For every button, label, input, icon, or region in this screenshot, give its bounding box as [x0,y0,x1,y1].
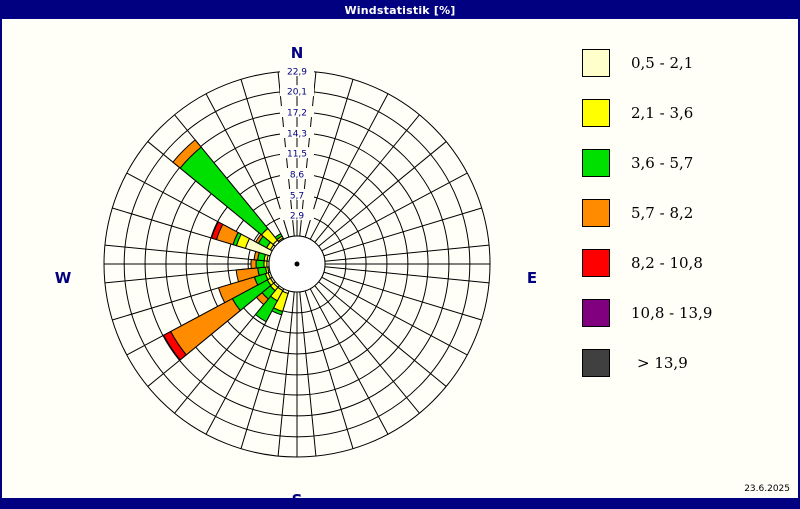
origin-marker [295,262,300,267]
legend-label: 0,5 - 2,1 [631,54,693,72]
calm-center [269,236,325,292]
legend-item: 10,8 - 13,9 [582,288,792,338]
petal-layer [164,140,289,360]
legend-label: 8,2 - 10,8 [631,254,703,272]
radial-tick-label: 2,9 [290,212,305,222]
legend-item: 5,7 - 8,2 [582,188,792,238]
radial-tick-label: 17,2 [287,109,307,119]
radial-tick-label: 8,6 [290,171,305,181]
legend-swatch [582,99,610,127]
grid-spoke [305,291,353,449]
legend-label: 3,6 - 5,7 [631,154,693,172]
radial-tick-label: 5,7 [290,191,304,201]
radial-tick-label: 11,5 [287,150,307,160]
legend-label: 5,7 - 8,2 [631,204,693,222]
grid-spoke [315,115,420,243]
radial-tick-label: 20,1 [287,88,307,98]
petal-segment [180,147,268,235]
grid-spoke [319,142,447,247]
date-stamp: 23.6.2025 [744,484,790,494]
legend-swatch [582,199,610,227]
legend-item: 3,6 - 5,7 [582,138,792,188]
grid-spoke [315,286,420,414]
grid-spoke [324,272,482,320]
legend-swatch [582,149,610,177]
legend-swatch [582,349,610,377]
grid-spoke [322,173,468,251]
legend-swatch [582,49,610,77]
compass-label-east: E [507,269,557,287]
window-title-bar: Windstatistik [%] [2,2,798,19]
legend-item: > 13,9 [582,338,792,388]
radial-tick-label: 22,9 [287,68,307,78]
legend-swatch [582,249,610,277]
grid-spoke [310,289,388,435]
wind-rose-plot: 2,95,78,611,514,317,220,122,9 N S W E [2,19,562,498]
petal-segment [256,260,264,268]
wind-rose-svg: 2,95,78,611,514,317,220,122,9 [2,19,562,498]
compass-label-west: W [38,269,88,287]
legend-label: > 13,9 [637,354,688,372]
legend-label: 10,8 - 13,9 [631,304,712,322]
petal-segment [251,259,256,268]
grid-spoke [324,208,482,256]
legend-swatch [582,299,610,327]
grid-spoke [319,282,447,387]
legend: 0,5 - 2,12,1 - 3,63,6 - 5,75,7 - 8,28,2 … [582,38,792,388]
legend-item: 2,1 - 3,6 [582,88,792,138]
legend-label: 2,1 - 3,6 [631,104,693,122]
grid-spoke [322,277,468,355]
compass-label-south: S [272,491,322,509]
grid-spoke [310,94,388,240]
window-title: Windstatistik [%] [344,4,455,17]
legend-item: 8,2 - 10,8 [582,238,792,288]
radial-tick-label: 14,3 [287,129,307,139]
wind-statistics-window: Windstatistik [%] 2,95,78,611,514,317,22… [0,0,800,500]
legend-item: 0,5 - 2,1 [582,38,792,88]
compass-label-north: N [272,44,322,62]
